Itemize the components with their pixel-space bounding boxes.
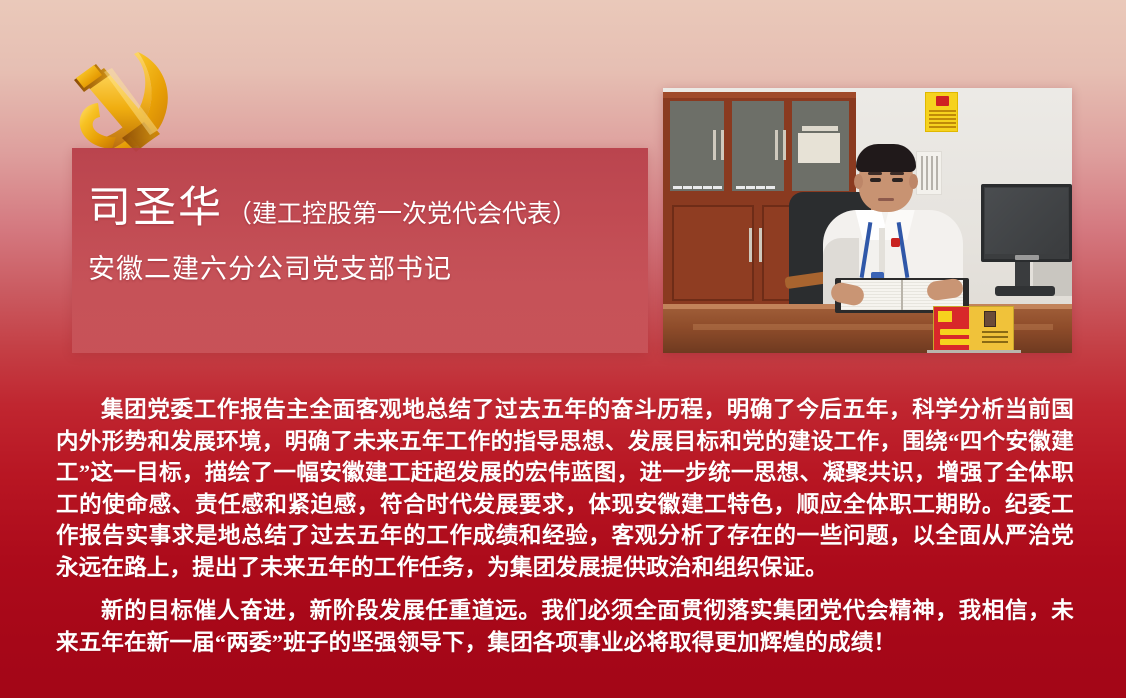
person-role-paren: （建工控股第一次党代会代表）: [223, 201, 577, 228]
photo-person-hair: [856, 144, 916, 172]
body-text: 集团党委工作报告主全面客观地总结了过去五年的奋斗历程，明确了今后五年，科学分析当…: [56, 394, 1074, 658]
photo-mouth: [878, 198, 894, 201]
photo-monitor-base: [995, 286, 1055, 296]
photo-desk-plaque: [933, 306, 1014, 352]
photo-monitor-glass: [985, 188, 1068, 254]
photo-glass-handle-left: [713, 130, 716, 160]
photo-cabinet-door-left: [672, 205, 754, 301]
photo-cabinet-handle-right: [759, 228, 762, 262]
photo-brow-left: [868, 172, 882, 175]
wall-poster-yellow: [925, 92, 958, 132]
poster-canvas: 司圣华（建工控股第一次党代会代表） 安徽二建六分公司党支部书记: [0, 0, 1126, 698]
body-paragraph-2: 新的目标催人奋进，新阶段发展任重道远。我们必须全面贯彻落实集团党代会精神，我相信…: [56, 595, 1074, 658]
photo-glass-handle-4: [783, 130, 786, 160]
photo-ear-right: [909, 174, 918, 189]
photo-eye-left: [870, 178, 881, 182]
person-name: 司圣华: [88, 185, 223, 232]
photo-eye-right: [892, 178, 903, 182]
photo-party-pin-icon: [891, 238, 900, 247]
photo-cabinet-handle-left: [749, 228, 752, 262]
photo-brow-right: [890, 172, 904, 175]
title-block: 司圣华（建工控股第一次党代会代表） 安徽二建六分公司党支部书记: [88, 186, 648, 286]
body-paragraph-1: 集团党委工作报告主全面客观地总结了过去五年的奋斗历程，明确了今后五年，科学分析当…: [56, 394, 1074, 583]
photo-plaque-base: [927, 350, 1021, 353]
photo-book-spine: [901, 280, 903, 310]
photo-ear-left: [854, 174, 863, 189]
photo-bookcase-glass-1: [667, 98, 727, 194]
photo-bookcase-glass-2: [729, 98, 787, 194]
portrait-photo: [663, 88, 1072, 353]
wall-poster-white: [916, 151, 942, 195]
person-position: 安徽二建六分公司党支部书记: [88, 247, 648, 286]
photo-monitor-logo: [1015, 255, 1039, 260]
photo-monitor-neck: [1015, 262, 1030, 288]
person-name-line: 司圣华（建工控股第一次党代会代表）: [88, 186, 648, 231]
photo-glass-handle-3: [775, 130, 778, 160]
photo-glass-handle-right: [721, 130, 724, 160]
photo-bookcase-glass-3: [789, 98, 852, 194]
hammer-and-sickle-icon: [60, 42, 184, 164]
